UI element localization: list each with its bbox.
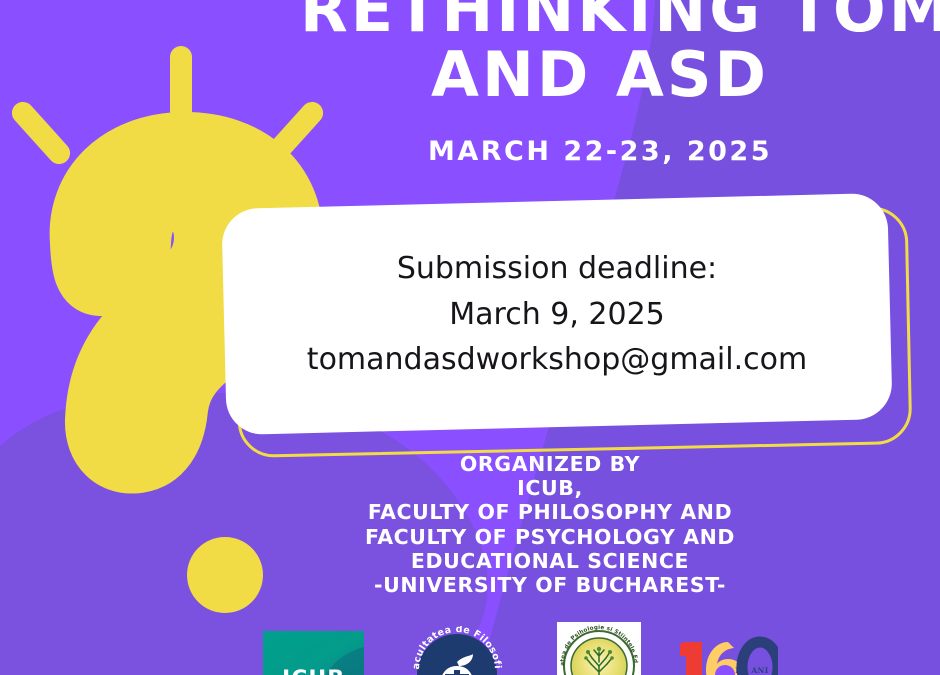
faculty-of-philosophy-logo[interactable]: Facultatea de Filosofie [407,626,507,675]
title-line-2: AND ASD [300,45,900,106]
organizers-line-5: EDUCATIONAL SCIENCE [240,549,860,573]
anniversary-160-logo[interactable]: DE ANI [680,632,778,675]
contact-email[interactable]: tomandasdworkshop@gmail.com [224,337,890,383]
submission-deadline-label: Submission deadline: [224,246,890,292]
info-card-content: Submission deadline: March 9, 2025 toman… [224,246,890,383]
faculty-of-psychology-logo[interactable]: Facultatea de Psihologie si Stiintele Ed… [554,622,644,675]
svg-text:DE ANI: DE ANI [735,666,769,675]
poster-title: RETHINKING TOM AND ASD [300,0,900,106]
organizers-line-6: -UNIVERSITY OF BUCHAREST- [240,573,860,597]
submission-info-card: Submission deadline: March 9, 2025 toman… [221,193,892,435]
poster-canvas: RETHINKING TOM AND ASD MARCH 22-23, 2025… [0,0,940,675]
icub-logo[interactable]: ICUB [263,631,364,675]
title-line-1: RETHINKING TOM [300,0,900,41]
spark-line-center [170,46,192,122]
organizers-line-2: ICUB, [240,476,860,500]
submission-deadline-date: March 9, 2025 [224,291,890,337]
event-date: MARCH 22-23, 2025 [300,136,900,167]
organizers-line-4: FACULTY OF PSYCHOLOGY AND [240,525,860,549]
organizers-line-1: ORGANIZED BY [240,452,860,476]
svg-text:ICUB: ICUB [282,667,345,675]
logo-strip: ICUB Facultatea de Filosofie [0,622,940,675]
organizers-block: ORGANIZED BY ICUB, FACULTY OF PHILOSOPHY… [240,452,860,597]
organizers-line-3: FACULTY OF PHILOSOPHY AND [240,500,860,524]
